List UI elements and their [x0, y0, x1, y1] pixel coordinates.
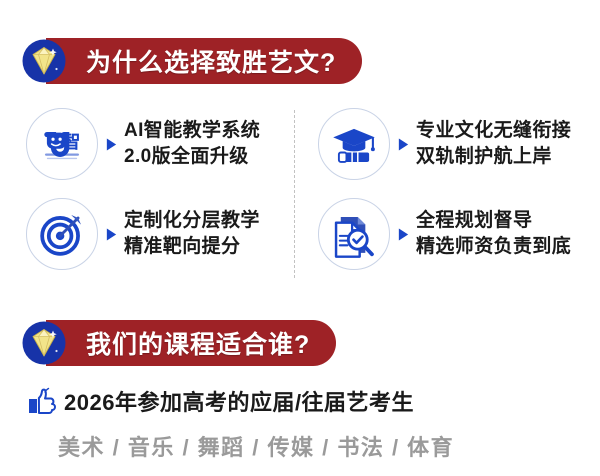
- audience-main-row: 2026年参加高考的应届/往届艺考生: [28, 385, 414, 417]
- diamond-badge-icon: [22, 39, 66, 83]
- column-divider: [294, 110, 295, 278]
- arrow-right-icon: [102, 227, 120, 242]
- graduation-cap-icon: [318, 108, 390, 180]
- target-dart-icon: [26, 198, 98, 270]
- section-title-why: 为什么选择致胜艺文?: [86, 43, 336, 79]
- arrow-right-icon: [394, 227, 412, 242]
- features-grid: 智 AI智能教学系统 2.0版全面升级: [26, 106, 582, 284]
- feature-label: 全程规划督导 精选师资负责到底: [416, 208, 571, 260]
- u-zhi-logo-icon: 智: [26, 108, 98, 180]
- feature-label: 专业文化无缝衔接 双轨制护航上岸: [416, 118, 571, 170]
- feature-line-1: 专业文化无缝衔接: [416, 120, 571, 141]
- feature-line-2: 精选师资负责到底: [416, 236, 571, 257]
- feature-label: 定制化分层教学 精准靶向提分: [124, 208, 260, 260]
- feature-item: 定制化分层教学 精准靶向提分: [26, 198, 288, 270]
- svg-text:智: 智: [62, 131, 80, 153]
- document-search-icon: [318, 198, 390, 270]
- feature-line-2: 2.0版全面升级: [124, 146, 249, 167]
- feature-line-2: 精准靶向提分: [124, 236, 240, 257]
- audience-sub-text: 美术 / 音乐 / 舞蹈 / 传媒 / 书法 / 体育: [58, 430, 454, 462]
- feature-line-1: 定制化分层教学: [124, 210, 260, 231]
- feature-line-1: 全程规划督导: [416, 210, 532, 231]
- feature-item: 专业文化无缝衔接 双轨制护航上岸: [318, 108, 580, 180]
- arrow-right-icon: [394, 137, 412, 152]
- arrow-right-icon: [102, 137, 120, 152]
- feature-item: 智 AI智能教学系统 2.0版全面升级: [26, 108, 288, 180]
- banner-pill-why: 为什么选择致胜艺文?: [46, 38, 362, 84]
- feature-line-1: AI智能教学系统: [124, 120, 260, 141]
- banner-pill-who: 我们的课程适合谁?: [46, 320, 336, 366]
- feature-line-2: 双轨制护航上岸: [416, 146, 552, 167]
- audience-main-text: 2026年参加高考的应届/往届艺考生: [64, 385, 414, 417]
- section-title-who: 我们的课程适合谁?: [86, 325, 310, 361]
- feature-label: AI智能教学系统 2.0版全面升级: [124, 118, 260, 170]
- diamond-badge-icon: [22, 321, 66, 365]
- thumbs-up-icon: [28, 387, 58, 415]
- feature-item: 全程规划督导 精选师资负责到底: [318, 198, 580, 270]
